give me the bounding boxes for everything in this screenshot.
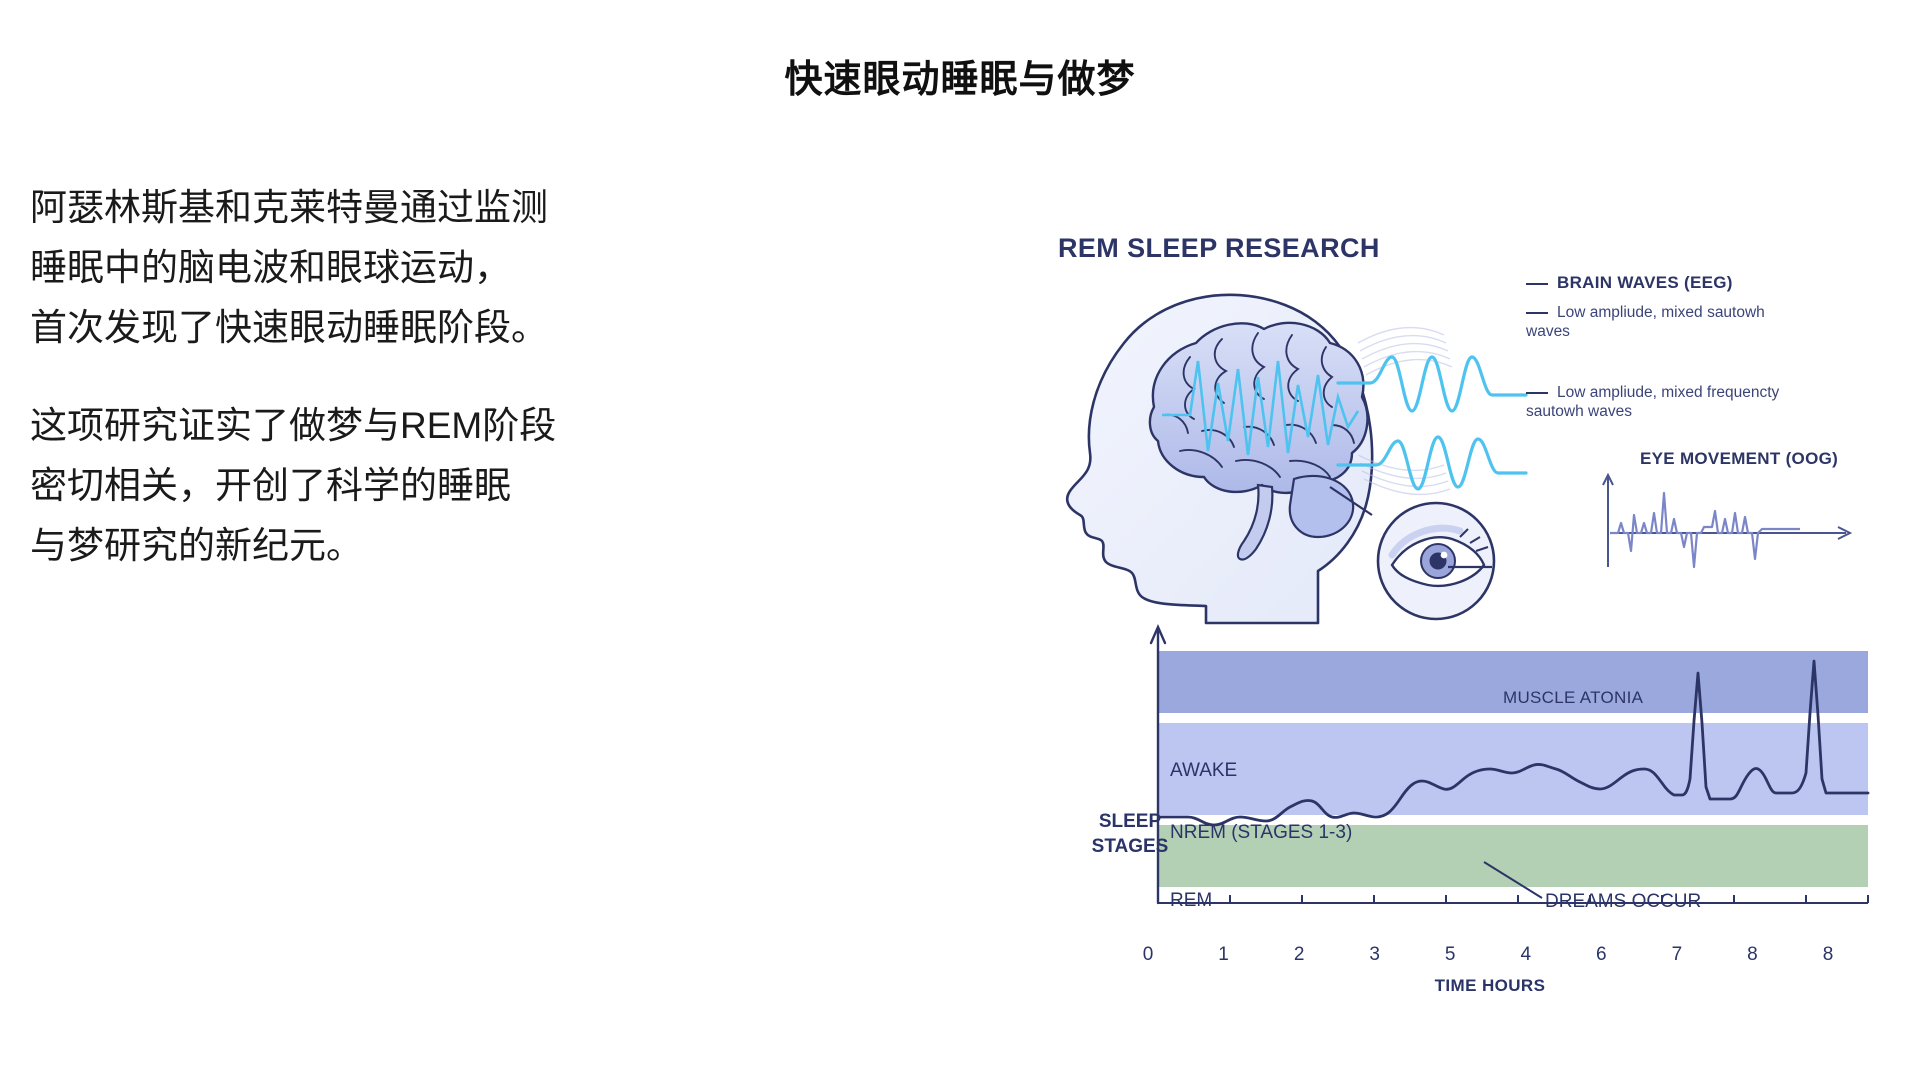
x-tick-label: 2 [1294, 944, 1305, 966]
band-label-rem: REM [1170, 890, 1212, 912]
x-tick-label: 6 [1596, 944, 1607, 966]
callout-brain-waves-title: BRAIN WAVES (EEG) [1557, 273, 1733, 292]
x-tick-label: 3 [1369, 944, 1380, 966]
chart-x-axis-title: TIME HOURS [1150, 976, 1830, 996]
axis-caption-line-1: SLEEP [1085, 810, 1175, 835]
dreams-occur-leader-line [1480, 860, 1560, 908]
paragraph-1-line-1: 阿瑟林斯基和克莱特曼通过监测 [30, 178, 750, 238]
rem-sleep-infographic: REM SLEEP RESEARCH [1040, 205, 1900, 1005]
sleep-stages-chart [930, 603, 1790, 1003]
paragraph-2-line-3: 与梦研究的新纪元。 [30, 516, 750, 576]
annotation-muscle-atonia: MUSCLE ATONIA [1503, 688, 1643, 708]
x-tick-label: 0 [1143, 944, 1154, 966]
hypnogram-svg [930, 603, 1910, 1003]
paragraph-2-line-1: 这项研究证实了做梦与REM阶段 [30, 396, 750, 456]
x-tick-label: 8 [1823, 944, 1834, 966]
x-tick-label: 8 [1747, 944, 1758, 966]
callout-brain-waves-sub2-line1: Low ampliude, mixed frequencty [1557, 384, 1779, 401]
chart-y-axis-caption: SLEEP STAGES [1085, 810, 1175, 859]
paragraph-2: 这项研究证实了做梦与REM阶段 密切相关，开创了科学的睡眠 与梦研究的新纪元。 [30, 396, 750, 576]
eye-movement-waveform [1600, 467, 1860, 577]
callout-brain-waves-sub: Low ampliude, mixed sautowh waves [1526, 303, 1776, 341]
head-brain-illustration [1040, 265, 1470, 625]
callout-brain-waves-sub-line1: Low ampliude, mixed [1557, 304, 1703, 321]
paragraph-1: 阿瑟林斯基和克莱特曼通过监测 睡眠中的脑电波和眼球运动， 首次发现了快速眼动睡眠… [30, 178, 750, 358]
oog-trace-icon [1610, 493, 1800, 567]
body-text-column: 阿瑟林斯基和克莱特曼通过监测 睡眠中的脑电波和眼球运动， 首次发现了快速眼动睡眠… [30, 178, 750, 576]
band-label-awake: AWAKE [1170, 760, 1237, 782]
band-nrem [1158, 723, 1868, 815]
callout-brain-waves-sub2: Low ampliude, mixed frequencty sautowh w… [1526, 383, 1816, 421]
head-brain-svg [1040, 265, 1560, 625]
x-tick-label: 5 [1445, 944, 1456, 966]
eye-movement-title: EYE MOVEMENT (OOG) [1640, 449, 1838, 469]
x-tick-label: 7 [1672, 944, 1683, 966]
callout-dash-icon [1526, 312, 1548, 314]
chart-x-tick-labels: 0123546788 [1148, 944, 1828, 972]
infographic-title: REM SLEEP RESEARCH [1058, 233, 1380, 264]
annotation-dreams-occur: DREAMS OCCUR [1545, 891, 1701, 913]
x-tick-label: 4 [1520, 944, 1531, 966]
callout-dash-icon [1526, 392, 1548, 394]
paragraph-2-line-2: 密切相关，开创了科学的睡眠 [30, 456, 750, 516]
x-tick-label: 1 [1218, 944, 1229, 966]
page-title: 快速眼动睡眠与做梦 [0, 48, 1920, 103]
paragraph-1-line-3: 首次发现了快速眼动睡眠阶段。 [30, 298, 750, 358]
callout-brain-waves: BRAIN WAVES (EEG) [1526, 273, 1733, 293]
paragraph-1-line-2: 睡眠中的脑电波和眼球运动， [30, 238, 750, 298]
band-label-nrem: NREM (STAGES 1-3) [1170, 822, 1352, 844]
callout-dash-icon [1526, 283, 1548, 285]
callout-brain-waves-sub2-line2: sautowh waves [1526, 403, 1632, 420]
slide-root: 快速眼动睡眠与做梦 阿瑟林斯基和克莱特曼通过监测 睡眠中的脑电波和眼球运动， 首… [0, 0, 1920, 1080]
axis-caption-line-2: STAGES [1085, 835, 1175, 860]
